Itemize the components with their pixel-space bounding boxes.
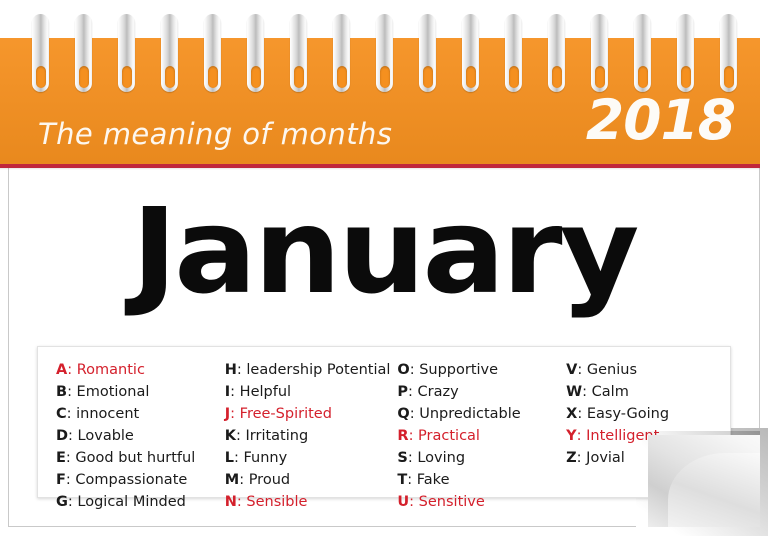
header-title: The meaning of months (38, 117, 392, 151)
meaning-letter: P (397, 384, 408, 400)
meaning-entry-y: Y: Intelligent (566, 425, 730, 447)
month-title: January (0, 192, 768, 310)
meaning-letter: W (566, 384, 582, 400)
meaning-text: : Jovial (577, 450, 625, 466)
meaning-entry-o: O: Supportive (397, 359, 563, 381)
meaning-letter: N (225, 494, 237, 510)
meaning-text: : Lovable (68, 428, 134, 444)
meaning-letter: F (56, 472, 66, 488)
meaning-entry-k: K: Irritating (225, 425, 395, 447)
meaning-text: : Free-Spirited (230, 406, 332, 422)
meaning-text: : Intelligent (577, 428, 660, 444)
meaning-text: : Emotional (67, 384, 149, 400)
meaning-entry-l: L: Funny (225, 447, 395, 469)
meaning-entry-m: M: Proud (225, 469, 395, 491)
meaning-entry-b: B: Emotional (56, 381, 222, 403)
meaning-letter: O (397, 362, 409, 378)
meaning-text: : Good but hurtful (66, 450, 195, 466)
meaning-text: : Proud (239, 472, 290, 488)
meaning-text: : Supportive (410, 362, 498, 378)
meanings-column-2: H: leadership PotentialI: HelpfulJ: Free… (222, 347, 395, 497)
meaning-text: : Genius (577, 362, 637, 378)
meaning-entry-w: W: Calm (566, 381, 730, 403)
meaning-letter: Y (566, 428, 577, 444)
meaning-letter: U (397, 494, 409, 510)
meaning-entry-e: E: Good but hurtful (56, 447, 222, 469)
meaning-text: : Sensitive (409, 494, 485, 510)
meaning-text: : leadership Potential (237, 362, 391, 378)
meaning-entry-j: J: Free-Spirited (225, 403, 395, 425)
meaning-text: : Fake (407, 472, 449, 488)
calendar-page: The meaning of months 2018 January A: Ro… (0, 0, 768, 536)
meaning-text: : Practical (409, 428, 480, 444)
header-divider-shadow (0, 168, 760, 170)
meaning-letter: G (56, 494, 68, 510)
meaning-text: : Compassionate (66, 472, 187, 488)
meaning-letter: K (225, 428, 236, 444)
meaning-entry-g: G: Logical Minded (56, 491, 222, 513)
meanings-column-3: O: SupportiveP: CrazyQ: UnpredictableR: … (394, 347, 563, 497)
meanings-panel: A: RomanticB: EmotionalC: innocentD: Lov… (37, 346, 731, 498)
meaning-text: : Easy-Going (577, 406, 669, 422)
meaning-letter: D (56, 428, 68, 444)
meaning-entry-p: P: Crazy (397, 381, 563, 403)
meaning-entry-d: D: Lovable (56, 425, 222, 447)
meaning-entry-c: C: innocent (56, 403, 222, 425)
meaning-letter: C (56, 406, 67, 422)
meaning-text: : Helpful (230, 384, 291, 400)
meaning-entry-u: U: Sensitive (397, 491, 563, 513)
meaning-text: : Calm (582, 384, 629, 400)
meaning-entry-n: N: Sensible (225, 491, 395, 513)
meaning-letter: X (566, 406, 577, 422)
meaning-text: : Logical Minded (68, 494, 186, 510)
meaning-text: : Romantic (67, 362, 145, 378)
meaning-entry-z: Z: Jovial (566, 447, 730, 469)
meaning-text: : Loving (408, 450, 465, 466)
meaning-entry-h: H: leadership Potential (225, 359, 395, 381)
meaning-text: : Funny (234, 450, 287, 466)
meaning-entry-x: X: Easy-Going (566, 403, 730, 425)
meaning-text: : innocent (67, 406, 140, 422)
meaning-entry-a: A: Romantic (56, 359, 222, 381)
meaning-text: : Irritating (236, 428, 308, 444)
meaning-text: : Crazy (408, 384, 459, 400)
meaning-text: : Unpredictable (410, 406, 521, 422)
meaning-entry-f: F: Compassionate (56, 469, 222, 491)
meaning-letter: T (397, 472, 407, 488)
meaning-text: : Sensible (237, 494, 308, 510)
meaning-letter: V (566, 362, 577, 378)
meaning-letter: L (225, 450, 234, 466)
meanings-column-4: V: GeniusW: CalmX: Easy-GoingY: Intellig… (563, 347, 730, 497)
meaning-entry-t: T: Fake (397, 469, 563, 491)
meaning-letter: B (56, 384, 67, 400)
header-year: 2018 (586, 93, 735, 148)
meanings-column-1: A: RomanticB: EmotionalC: innocentD: Lov… (38, 347, 222, 497)
meaning-entry-v: V: Genius (566, 359, 730, 381)
meaning-entry-r: R: Practical (397, 425, 563, 447)
meaning-entry-s: S: Loving (397, 447, 563, 469)
meaning-letter: A (56, 362, 67, 378)
meaning-entry-q: Q: Unpredictable (397, 403, 563, 425)
meaning-letter: R (397, 428, 408, 444)
meaning-letter: M (225, 472, 239, 488)
meaning-letter: Z (566, 450, 577, 466)
meaning-letter: E (56, 450, 66, 466)
meaning-letter: Q (397, 406, 409, 422)
meaning-entry-i: I: Helpful (225, 381, 395, 403)
meaning-letter: H (225, 362, 237, 378)
meaning-letter: S (397, 450, 407, 466)
